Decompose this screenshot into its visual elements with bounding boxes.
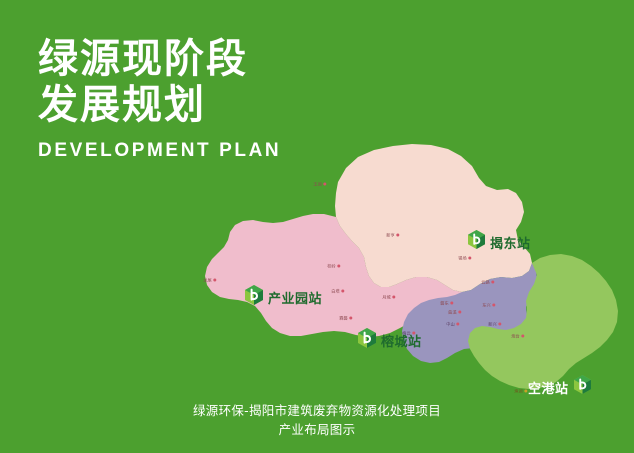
caption-block: 绿源环保-揭阳市建筑废弃物资源化处理项目 产业布局图示 (0, 401, 634, 439)
town-label: 中山 (446, 322, 454, 327)
town-label: 白塔 (331, 289, 339, 294)
town-marker: 渔湖 (514, 389, 527, 394)
town-marker: 曲溪 (448, 310, 461, 315)
town-marker: 东兴 (482, 303, 495, 308)
town-marker: 霖磐 (339, 316, 352, 321)
lvyuan-logo-icon (468, 230, 485, 254)
subtitle-english: DEVELOPMENT PLAN (38, 140, 281, 162)
town-dot-icon (342, 290, 345, 293)
lvyuan-logo-icon (358, 328, 376, 353)
town-dot-icon (469, 257, 472, 260)
station-marker-jiedong[interactable]: 揭东站 (468, 230, 531, 254)
lvyuan-logo-icon (245, 285, 263, 310)
town-label: 磐东 (440, 301, 448, 306)
town-label: 霖磐 (339, 316, 347, 321)
town-marker: 磐东 (440, 301, 453, 306)
town-label: 桂岭 (327, 264, 335, 269)
development-plan-poster: 绿源现阶段 发展规划 DEVELOPMENT PLAN 玉湖 新亨 锡场 桂岭 … (0, 0, 634, 453)
town-marker: 桂岭 (327, 264, 340, 269)
town-dot-icon (451, 302, 454, 305)
jieyang-region-map: 玉湖 新亨 锡场 桂岭 龙尾 白塔 月城 霖磐 磐东 云路 曲溪 东兴 中山 新… (150, 140, 634, 410)
town-label: 炮台 (511, 334, 519, 339)
town-label: 玉湖 (313, 182, 321, 187)
caption-line-2: 产业布局图示 (0, 420, 634, 439)
town-dot-icon (338, 265, 341, 268)
town-label: 锡场 (458, 256, 466, 261)
town-dot-icon (492, 281, 495, 284)
station-marker-industrial-park[interactable]: 产业园站 (245, 285, 322, 310)
town-marker: 新兴 (488, 322, 501, 327)
town-dot-icon (457, 323, 460, 326)
town-marker: 月城 (382, 295, 395, 300)
town-label: 新兴 (488, 322, 496, 327)
town-label: 云路 (481, 280, 489, 285)
station-label: 揭东站 (490, 233, 531, 252)
town-dot-icon (393, 296, 396, 299)
town-label: 月城 (382, 295, 390, 300)
town-label: 曲溪 (448, 310, 456, 315)
town-dot-icon (397, 234, 400, 237)
station-marker-airport[interactable]: 空港站 (528, 375, 591, 399)
map-illustration (150, 140, 634, 410)
town-label: 新亨 (386, 233, 394, 238)
town-label: 东兴 (482, 303, 490, 308)
town-dot-icon (493, 304, 496, 307)
station-label: 榕城站 (381, 331, 422, 350)
town-marker: 白塔 (331, 289, 344, 294)
town-dot-icon (214, 279, 217, 282)
station-label: 产业园站 (268, 288, 322, 307)
town-dot-icon (324, 183, 327, 186)
headline-line-1: 绿源现阶段 (38, 36, 281, 82)
lvyuan-logo-icon (574, 375, 591, 399)
town-label: 渔湖 (514, 389, 522, 394)
town-dot-icon (350, 317, 353, 320)
town-dot-icon (459, 311, 462, 314)
town-marker: 玉湖 (313, 182, 326, 187)
title-block: 绿源现阶段 发展规划 DEVELOPMENT PLAN (38, 36, 281, 162)
town-label: 龙尾 (203, 278, 211, 283)
town-dot-icon (522, 335, 525, 338)
town-dot-icon (499, 323, 502, 326)
station-label: 空港站 (528, 378, 569, 397)
town-marker: 云路 (481, 280, 494, 285)
station-marker-rongcheng[interactable]: 榕城站 (358, 328, 422, 353)
town-marker: 中山 (446, 322, 459, 327)
town-marker: 新亨 (386, 233, 399, 238)
headline-line-2: 发展规划 (38, 82, 281, 128)
town-marker: 龙尾 (203, 278, 216, 283)
town-marker: 炮台 (511, 334, 524, 339)
caption-line-1: 绿源环保-揭阳市建筑废弃物资源化处理项目 (0, 401, 634, 420)
town-marker: 锡场 (458, 256, 471, 261)
